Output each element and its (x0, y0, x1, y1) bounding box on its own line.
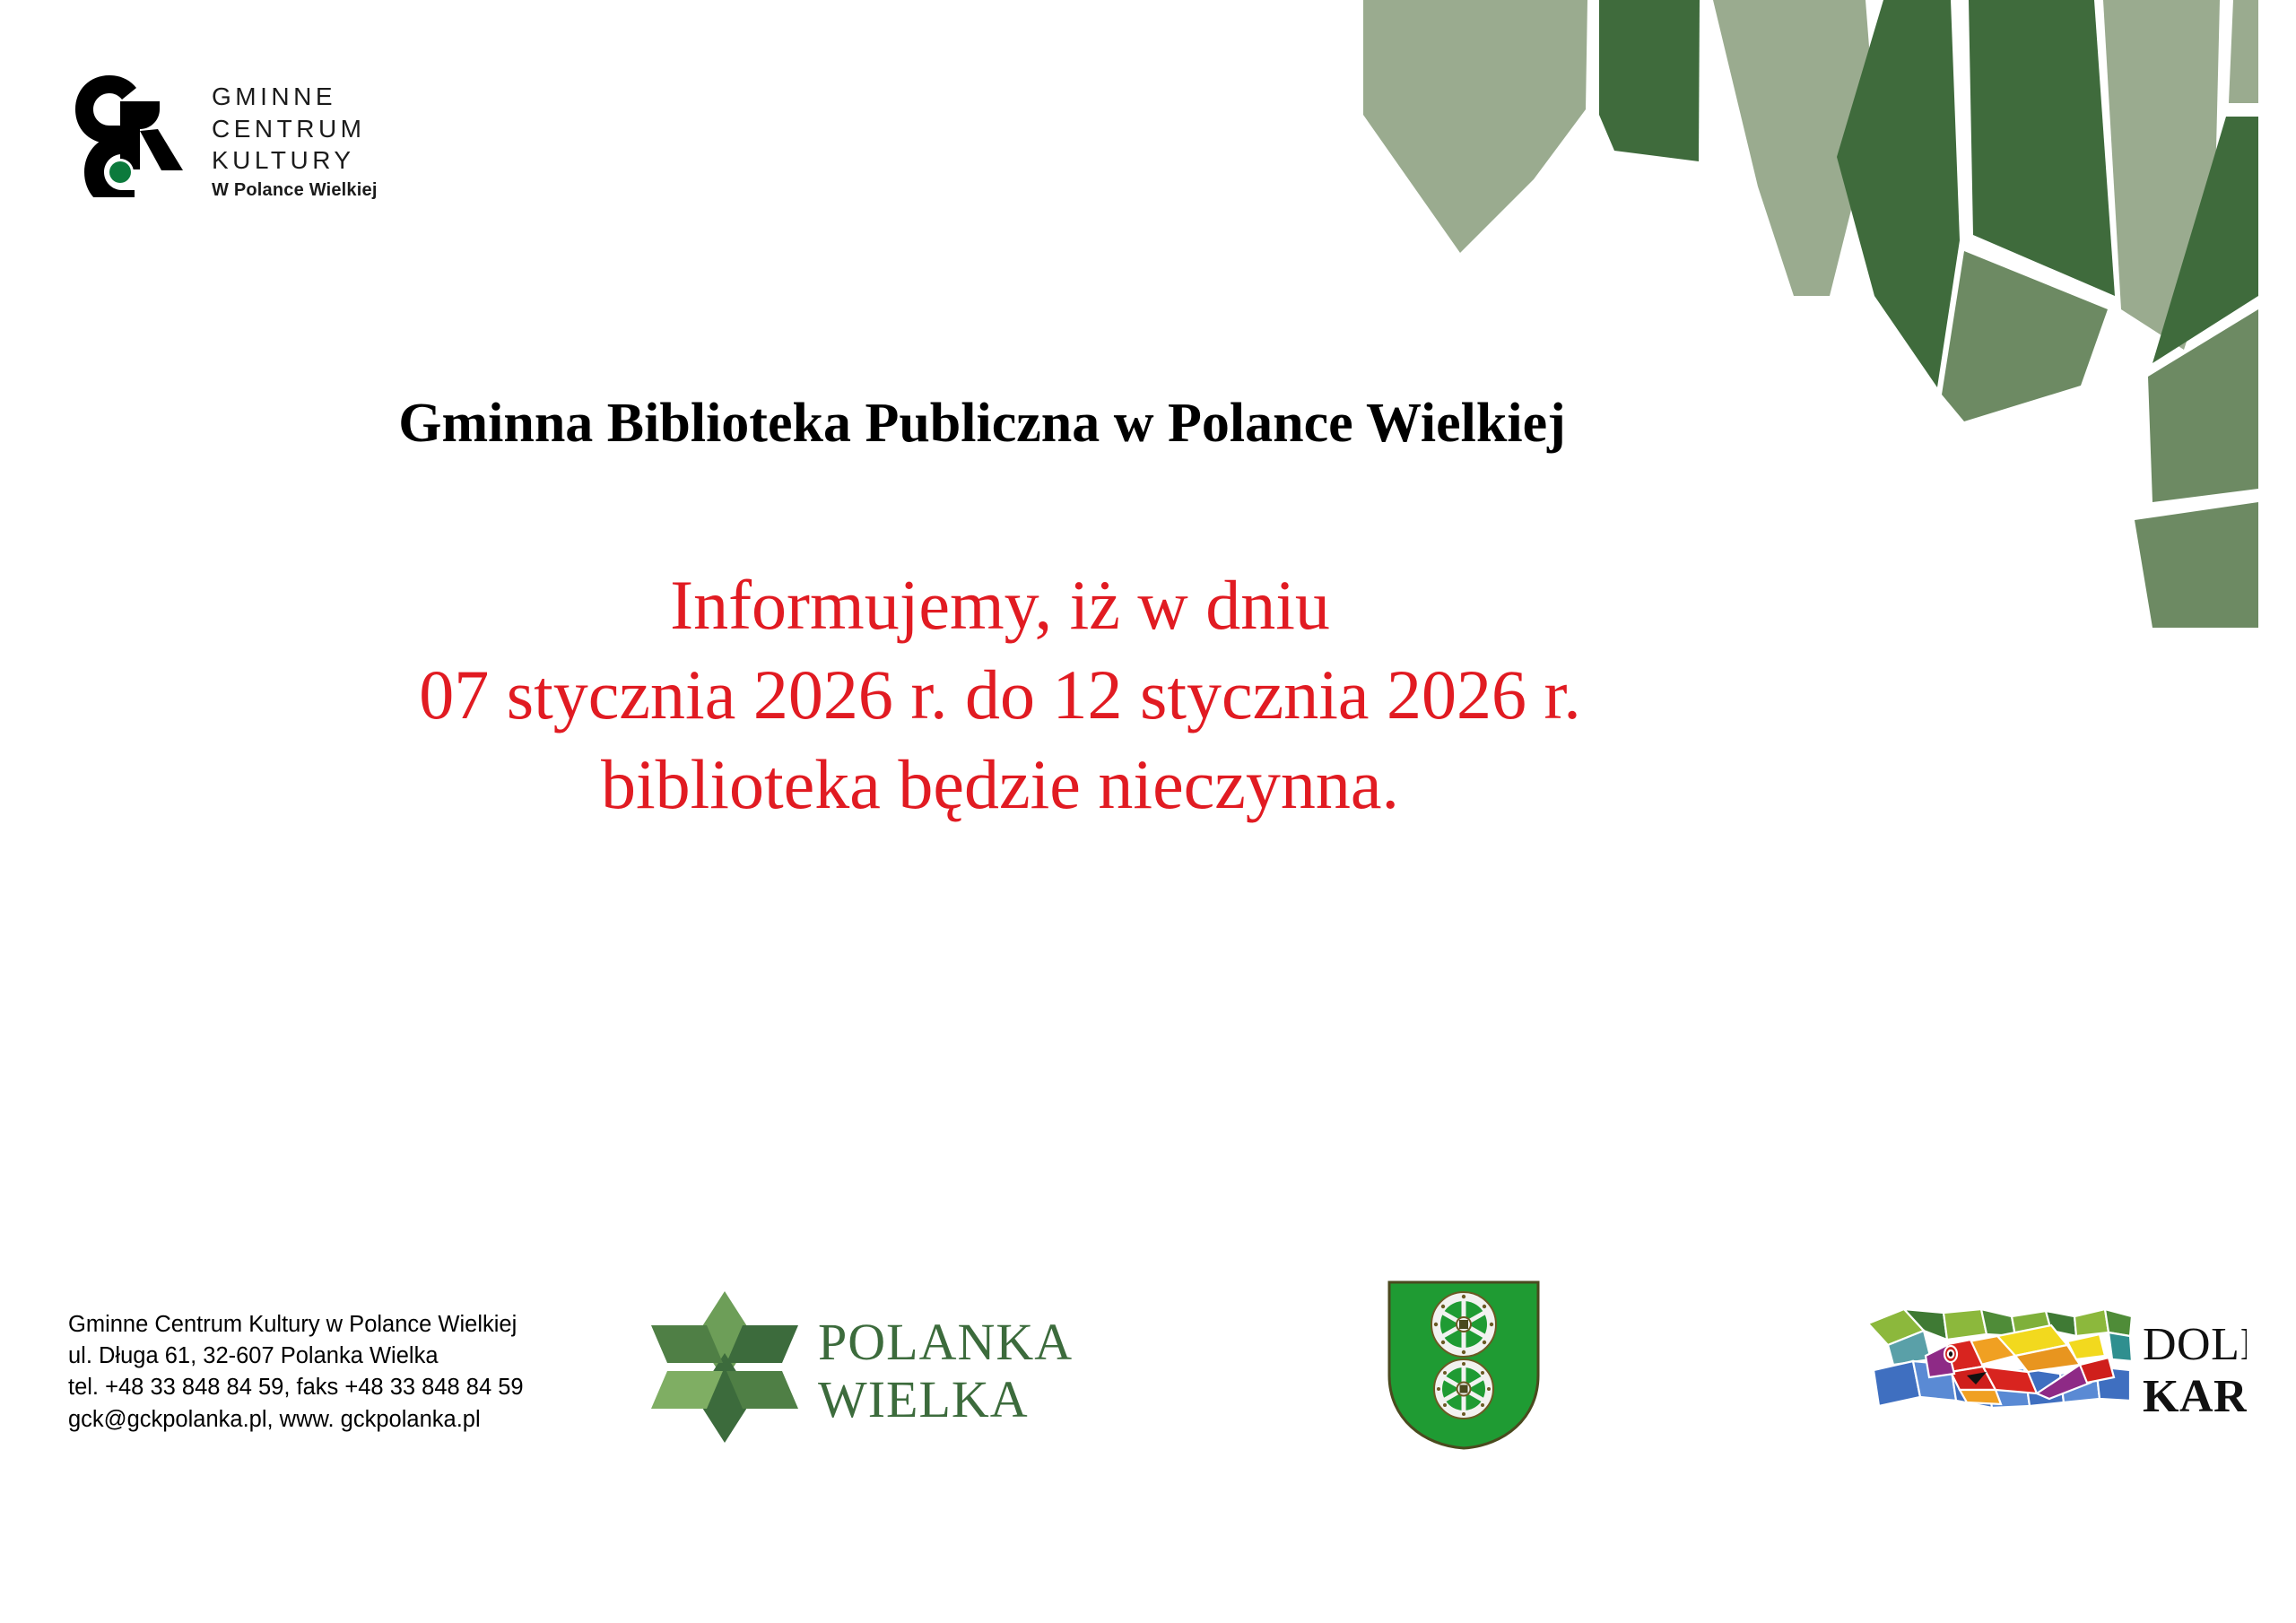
polanka-wordmark-line-1: POLANKA (818, 1313, 1073, 1371)
decorative-polygon-pattern (1256, 0, 2296, 628)
gck-logo: GMINNE CENTRUM KULTURY W Polance Wielkie… (68, 70, 427, 213)
gck-monogram-icon (68, 70, 196, 197)
gck-line-3: KULTURY (212, 144, 378, 177)
cart-wheel-lower-icon (1434, 1359, 1493, 1419)
notice-line-3: biblioteka będzie nieczynna. (0, 740, 2000, 829)
closure-notice: Informujemy, iż w dniu 07 stycznia 2026 … (0, 560, 2000, 829)
page-title: Gminna Biblioteka Publiczna w Polance Wi… (0, 392, 1964, 456)
mosaic-carp-icon (1868, 1309, 2132, 1408)
deco-shape-light-1 (1363, 0, 1587, 253)
contact-line-2: ul. Długa 61, 32-607 Polanka Wielka (68, 1341, 524, 1372)
contact-line-3: tel. +48 33 848 84 59, faks +48 33 848 8… (68, 1372, 524, 1403)
deco-shape-mid-2 (2148, 309, 2258, 502)
contact-line-1: Gminne Centrum Kultury w Polance Wielkie… (68, 1309, 524, 1341)
gck-letter-k-arms (140, 101, 160, 129)
gck-line-1: GMINNE (212, 81, 378, 113)
deco-shape-dark-2 (1837, 0, 1960, 387)
deco-shape-dark-3 (1969, 0, 2115, 296)
contact-line-4: gck@gckpolanka.pl, www. gckpolanka.pl (68, 1404, 524, 1436)
gck-accent-dot (109, 161, 131, 183)
karpia-wordmark-line-1: DOLINA (2143, 1319, 2247, 1370)
polanka-star-icon (651, 1291, 798, 1443)
notice-line-1: Informujemy, iż w dniu (0, 560, 2000, 650)
deco-shape-mid-1 (1942, 251, 2108, 421)
gck-letter-k-leg (140, 129, 183, 170)
deco-shape-dark-1 (1599, 0, 1700, 161)
deco-shape-light-4 (2229, 0, 2258, 103)
cart-wheel-upper-icon (1431, 1292, 1496, 1357)
polanka-wielka-coat-of-arms (1378, 1275, 1549, 1454)
contact-info: Gminne Centrum Kultury w Polance Wielkie… (68, 1309, 524, 1436)
polanka-wordmark-line-2: WIELKA (818, 1370, 1029, 1428)
footer: Gminne Centrum Kultury w Polance Wielkie… (0, 1255, 2296, 1506)
deco-shape-mid-3 (2135, 502, 2258, 628)
polanka-wielka-logo: POLANKA WIELKA (642, 1284, 1073, 1450)
dolina-karpia-logo: DOLINA KARPIA (1861, 1289, 2247, 1442)
gck-subtitle: W Polance Wielkiej (212, 180, 378, 201)
gck-wordmark: GMINNE CENTRUM KULTURY W Polance Wielkie… (212, 70, 378, 201)
karpia-wordmark-line-2: KARPIA (2143, 1371, 2247, 1422)
deco-shape-light-3 (2103, 0, 2220, 350)
notice-line-2: 07 stycznia 2026 r. do 12 stycznia 2026 … (0, 650, 2000, 740)
gck-line-2: CENTRUM (212, 113, 378, 145)
deco-shape-light-2 (1713, 0, 1874, 296)
deco-shape-dark-4 (2152, 117, 2258, 363)
